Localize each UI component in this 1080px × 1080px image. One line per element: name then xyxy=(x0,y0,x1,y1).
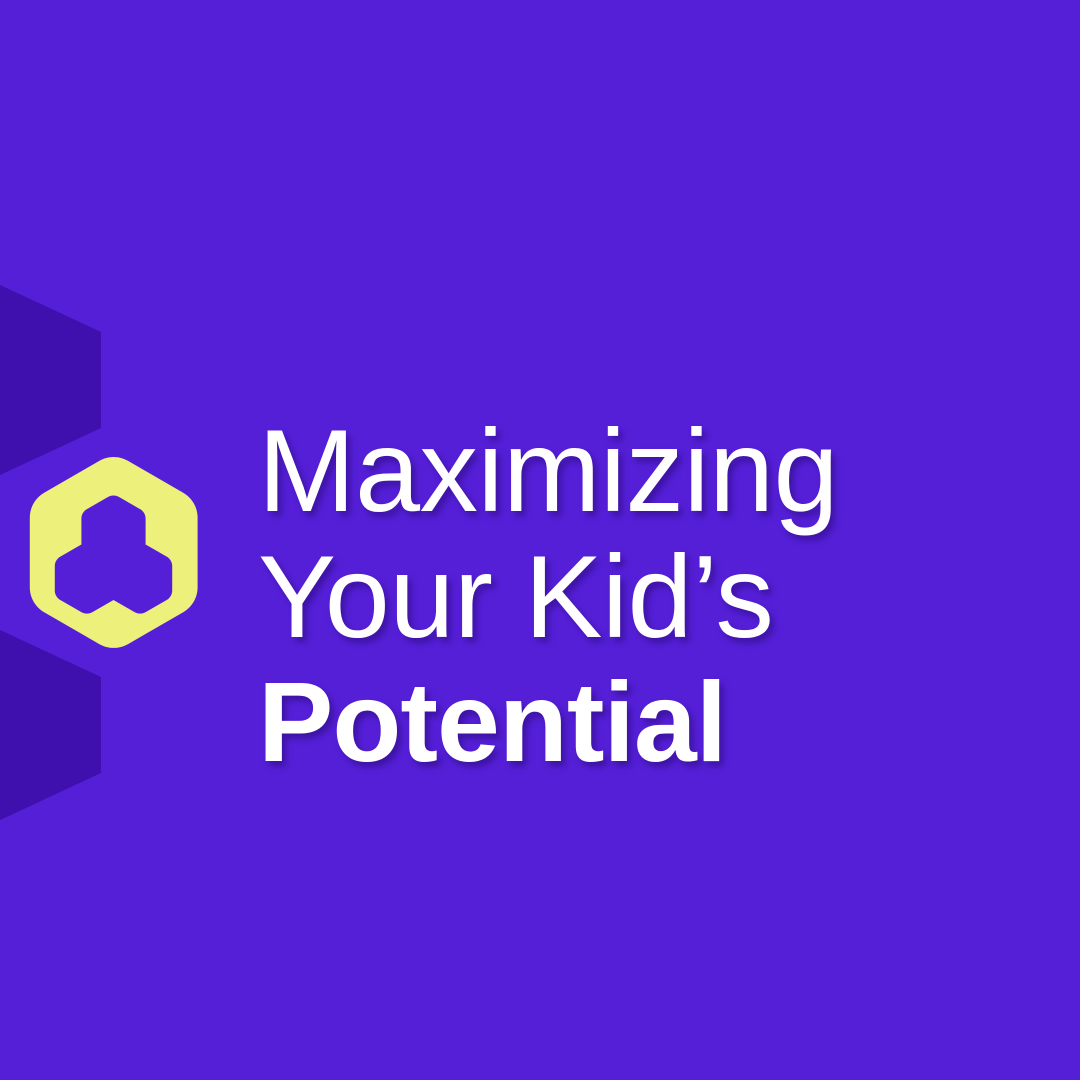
poster-canvas: Maximizing Your Kid’s Potential xyxy=(0,0,1080,1080)
brand-logo xyxy=(30,456,197,649)
deco-hexagon-bottom-icon xyxy=(0,629,101,821)
hexagon-honeycomb-icon xyxy=(30,456,197,649)
headline-line-1: Maximizing xyxy=(258,412,1048,529)
headline-line-2: Your Kid’s xyxy=(258,538,1048,655)
headline-line-3: Potential xyxy=(258,666,1048,779)
deco-hexagon-top-icon xyxy=(0,284,101,476)
headline-block: Maximizing Your Kid’s Potential xyxy=(258,412,1048,779)
